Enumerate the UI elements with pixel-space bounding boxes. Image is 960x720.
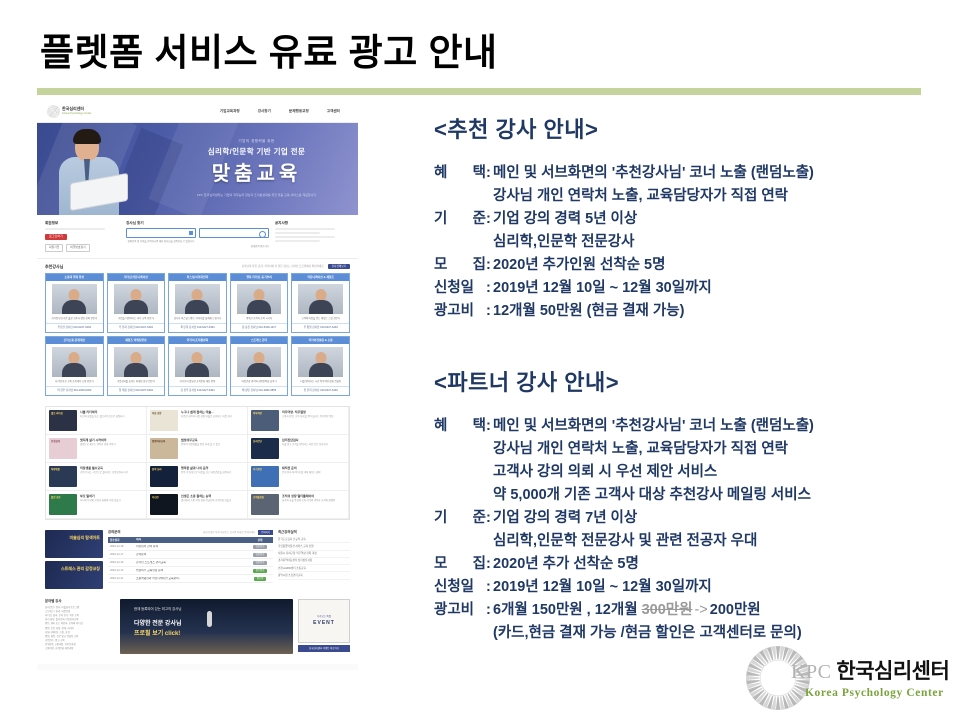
row-status: 답변완료 <box>249 561 271 565</box>
placeholder-line <box>275 236 335 238</box>
row-text: 2019년 12월 10일 ~ 12월 30일까지 <box>493 277 934 300</box>
slide-root: 플렛폼 서비스 유료 광고 안내 한국심리센터 Korea Psychology… <box>0 0 960 720</box>
info-row: 심리학,인문학 전문강사 <box>434 231 934 254</box>
inquiry-note: 회사/단체로 직접 제공받고 싶다면 아래로 문의하세요 <box>203 531 255 534</box>
price-new: 200만원 <box>710 602 761 618</box>
page-title: 플렛폼 서비스 유료 광고 안내 <box>40 22 498 76</box>
col-status: 상태 <box>249 539 271 542</box>
teacher-card-title: 리더십,커뮤니케이션 <box>108 274 165 281</box>
info-row: 모집 : 2020년 추가 선착순 5명 <box>434 553 934 576</box>
course-thumbnail: 자기경영 <box>251 466 279 487</box>
sunburst-icon <box>47 105 60 118</box>
promo-card[interactable]: 미술심리 탐색아트 <box>45 530 103 558</box>
row-colon: : <box>486 599 493 622</box>
row-label: 모집 <box>434 254 486 277</box>
banner-footnote: KPC 한국심리센터는 기업의 직무능력 향상과 조직활성화를 위한 맞춤 교육… <box>169 194 344 198</box>
row-colon: : <box>486 576 493 599</box>
teacher-contact: 유 민희 강사님 010-6227-6494 <box>292 386 349 395</box>
row-text: 강사님 개인 연락처 노출, 교육담당자가 직접 연락 <box>493 185 788 208</box>
row-title: 강사님 스트레스 관리교육 <box>136 561 245 564</box>
row-status: 답변완료 <box>249 545 271 549</box>
info-row: 심리학,인문학 전문강사 및 관련 전공자 우대 <box>434 530 934 553</box>
row-label: 광고비 <box>434 300 486 323</box>
footer-banner-line2: 다양한 전문 강사님 <box>134 621 182 629</box>
category-list: 분야별 강사 심리진단 / 검사, 미술심리프로그램 스트레스 / 관리, 마음… <box>45 599 115 654</box>
status-badge: 답변완료 <box>253 561 268 565</box>
teacher-grid-row1: 소통과 행복 향상 사기업/공공기관 출강 소통과 협업 강의 전문가 주진관 … <box>45 273 350 333</box>
placeholder-line <box>275 240 320 242</box>
news-item[interactable]: 서울시 자치구청 직무역량 강화 과정 <box>278 551 350 558</box>
row-date: 2019-12-13 <box>110 569 132 572</box>
row-colon: : <box>486 507 493 530</box>
info-row: 혜택 : 메인 및 서브화면의 '추천강사님' 코너 노출 (랜덤노출) <box>434 162 934 185</box>
notice-col: 공지사항 <box>275 221 350 252</box>
course-tag: 몰입 공감 <box>51 496 60 499</box>
teacher-contact: 주 현지 강사님 010-6227-6494 <box>108 323 165 332</box>
price-arrow: -> <box>692 602 709 618</box>
promo-card[interactable]: 스트레스 관리 감정코칭 <box>45 561 103 589</box>
teacher-photo <box>175 347 220 377</box>
section-partner: <파트너 강사 안내> 혜택 : 메인 및 서브화면의 '추천강사님' 코너 노… <box>434 365 934 645</box>
teacher-card[interactable]: 퍼스널,이미지전략 남다른 퍼스널 브랜드 이미지를 설계해 드립니다 최 민희… <box>168 273 227 333</box>
teacher-search-title: 강사님 찾기 <box>126 221 269 225</box>
search-input[interactable] <box>199 228 269 238</box>
section-header: 추천강사님 강사님의 자질, 품격, 커리어와 더 많은 정보는 강사님 프로필… <box>45 264 350 269</box>
teacher-desc: 기업을 이끌어가는 리더 교육 전문가 <box>108 316 165 323</box>
promo-column: 미술심리 탐색아트 스트레스 관리 감정코칭 <box>45 530 103 589</box>
teacher-photo <box>298 347 343 377</box>
promo-title: 스트레스 관리 감정코칭 <box>61 567 100 572</box>
member-info-title: 회원정보 <box>45 221 120 225</box>
teacher-photo <box>52 284 97 314</box>
course-sub: 기본이 되는, 기본으로 돌아가는 신입사원과 리더 <box>80 471 128 475</box>
course-grid: 셀프 리더십 나를 리더하라자신의 성장을 돕는 셀프리더십으로 성장하기 마음… <box>45 406 350 520</box>
kpc-english-name: Korea Psychology Center <box>805 687 949 699</box>
course-cell[interactable]: 직무역량 직무역량, 직무열정소통과 협업, 조직 성과를 끌어 올리는 직무역… <box>248 407 349 435</box>
teacher-card[interactable]: 커리어,조직활성화 리더로서 필요한 조직문화 개선 방향 김 경주 강사님 0… <box>168 336 227 396</box>
course-thumbnail: 직무역량 <box>251 410 279 431</box>
course-sub: 열정으로 채우는 행복한 인생 이야기 <box>80 443 116 447</box>
row-date: 2019-12-11 <box>110 577 132 580</box>
course-thumbnail: 인생설계 <box>49 438 77 459</box>
category-select[interactable] <box>126 228 196 238</box>
status-badge: 접수중 <box>254 577 267 581</box>
site-hero-banner: 기업의 경쟁력을 위한 심리학/인문학 기반 기업 전문 맞춤교육 KPC 한국… <box>37 123 358 215</box>
teacher-contact: 주진관 강사님 010-6227-6494 <box>46 323 103 332</box>
banner-title: 맞춤교육 <box>169 162 344 187</box>
course-sub: 자녀와 부모의 공감과 화합의 가정 만들기 <box>80 499 121 503</box>
teacher-card-title: 소통과 행복 향상 <box>46 274 103 281</box>
row-label: 광고비 <box>434 599 486 622</box>
course-title: 법정의무교육 <box>181 438 220 442</box>
category-item[interactable]: 소통역량, 조직문화 개선과정 <box>45 647 115 651</box>
course-cell[interactable]: 음악 심리 행복한 삶과 나의 음악음악 속 감성으로 마음을 쉬고 마음건강을… <box>147 463 248 491</box>
teacher-desc: 사기업/공공 교육 조직내부 소통 전문가 <box>46 379 103 386</box>
kpc-abbreviation: KPC <box>791 661 831 684</box>
banner-copy: 기업의 경쟁력을 위한 심리학/인문학 기반 기업 전문 맞춤교육 KPC 한국… <box>169 139 344 198</box>
teacher-card[interactable]: 세일즈 마케팅향상 기업성과를 높이는 마케팅 실무 전문가 임 택용 강사님 … <box>107 336 166 396</box>
teacher-desc: 고객의 마음을 얻는 세일즈 스킬 전문가 <box>292 316 349 323</box>
row-colon: : <box>486 415 493 438</box>
course-cell[interactable]: 마음 성장 누구나 쉽게 접하는 미술...자존감 회복과 마음 성장 미술로 … <box>147 407 248 435</box>
row-title: 미술심리 강의 문의 <box>136 545 245 548</box>
inquiry-button[interactable]: 문의하기 <box>258 530 273 535</box>
course-thumbnail: 몰입 공감 <box>49 494 77 515</box>
teacher-desc: 기업성과를 높이는 마케팅 실무 전문가 <box>108 379 165 386</box>
row-text: (카드,현금 결재 가능 /현금 할인은 고객센터로 문의) <box>493 622 802 645</box>
course-thumbnail: 음악 심리 <box>150 466 178 487</box>
info-row: 기준 : 기업 강의 경력 7년 이상 <box>434 507 934 530</box>
course-title: 조직의 성장 멀티플레이어 <box>282 494 335 498</box>
info-row-price: 광고비 : 6개월 150만원 , 12개월 300만원->200만원 <box>434 599 934 622</box>
row-label: 모집 <box>434 553 486 576</box>
row-label: 혜택 <box>434 415 486 438</box>
teacher-card[interactable]: 스트레스 관리 마음건강 관리와 회복탄력성 높이기 배 정민 강사님 010-… <box>230 336 289 396</box>
course-tag: 자신감 <box>152 496 159 499</box>
content-column: <추천 강사 안내> 혜택 : 메인 및 서브화면의 '추천강사님' 코너 노출… <box>434 112 934 645</box>
site-nav-items: 기업교육과정 강사찾기 문제행동교정 고객센터 <box>220 109 348 113</box>
price-old: 300만원 <box>642 602 693 618</box>
row-colon: : <box>486 162 493 185</box>
status-badge: 답변완료 <box>253 553 268 557</box>
info-row: 신청일 : 2019년 12월 10일 ~ 12월 30일까지 <box>434 277 934 300</box>
row-colon: : <box>486 553 493 576</box>
search-controls <box>126 228 269 238</box>
col-title: 제목 <box>136 538 245 541</box>
news-item[interactable]: 경기지역아동센터 심리상담과정 <box>278 558 350 565</box>
course-cell[interactable]: 직장예절 직장생활 필수교육기본이 되는, 기본으로 돌아가는 신입사원과 리더 <box>46 463 147 491</box>
event-box[interactable]: 다가오는 특별 EVENT 한국심리센터 이벤트 바로가기 <box>298 599 350 654</box>
row-text: 약 5,000개 기존 고객사 대상 추천강사 메일링 서비스 <box>493 484 811 507</box>
site-nav-item: 기업교육과정 <box>220 109 240 113</box>
course-sub: 일터에서 소통 역량 강화 직급간의 조직문화 만들기 <box>181 499 231 503</box>
row-date: 2019-12-18 <box>110 545 132 548</box>
course-title: 멋지게 살기 시작하라 <box>80 438 116 442</box>
teacher-contact: 임 택용 강사님 010-6227-6494 <box>108 386 165 395</box>
course-thumbnail: 심리진단 <box>251 438 279 459</box>
row-colon: : <box>486 208 493 231</box>
kpc-logo: KPC 한국심리센터 Korea Psychology Center <box>745 645 950 711</box>
course-title: 직장생활 필수교육 <box>80 466 128 470</box>
kpc-logo-text: KPC 한국심리센터 Korea Psychology Center <box>791 655 949 699</box>
course-title: 직무역량, 직무열정 <box>282 410 334 414</box>
teacher-photo <box>52 347 97 377</box>
course-tag: 인생설계 <box>51 440 60 443</box>
table-row[interactable]: 2019-12-11 소통역량강화 커뮤니케이션 교육문의... 접수중 <box>108 575 273 583</box>
row-title: 법정의무 교육일정 문의 <box>136 569 245 572</box>
row-text: 2020년 추가 선착순 5명 <box>493 553 934 576</box>
row-text: 심리학,인문학 전문강사 <box>493 231 634 254</box>
course-title: 퇴직전 준비 <box>282 466 321 470</box>
status-badge: 접수완료 <box>253 569 268 573</box>
login-button[interactable]: 로그인하기 <box>45 234 67 240</box>
course-tag: 자기경영 <box>253 468 262 471</box>
row-label: 기준 <box>434 507 486 530</box>
inquiry-title: 강의문의 <box>108 530 120 534</box>
course-cell[interactable]: 몰입 공감 부모 말하기자녀와 부모의 공감과 화합의 가정 만들기 <box>46 491 147 519</box>
member-buttons: 회원가입 비밀번호찾기 <box>45 244 120 251</box>
news-item[interactable]: 한국도로공사 신규직 교육 <box>278 536 350 543</box>
banner-person-photo <box>53 129 131 215</box>
title-divider <box>37 88 921 95</box>
promo-title: 미술심리 탐색아트 <box>69 536 100 541</box>
course-thumbnail: 자신감 <box>150 494 178 515</box>
row-title: 강의문의 <box>136 553 245 556</box>
row-label: 신청일 <box>434 277 486 300</box>
row-text-price: 6개월 150만원 , 12개월 300만원->200만원 <box>493 599 934 622</box>
info-row: 강사님 개인 연락처 노출, 교육담당자가 직접 연락 <box>434 185 934 208</box>
course-tag: 조직활성화 <box>253 496 264 499</box>
course-cell[interactable]: 심리진단 심리진단검사나를 알고 조직을 알아가는 마음 진단 심리검사 <box>248 435 349 463</box>
row-text: 고객사 강의 의뢰 시 우선 제안 서비스 <box>493 461 717 484</box>
course-thumbnail: 직장예절 <box>49 466 77 487</box>
teacher-card-title: 스트레스 관리 <box>231 337 288 344</box>
teacher-desc: 리더로서 필요한 조직문화 개선 방향 <box>169 379 226 386</box>
course-tag: 마음 성장 <box>152 412 161 415</box>
news-item[interactable]: 국립중앙박물관 서비스 교육 진행 <box>278 543 350 550</box>
course-title: 행복한 삶과 나의 음악 <box>181 466 231 470</box>
person-hair <box>73 129 101 144</box>
banner-subtitle: 심리학/인문학 기반 기업 전문 <box>169 147 344 156</box>
row-date: 2019-12-16 <box>110 561 132 564</box>
table-row[interactable]: 2019-12-16 강사님 스트레스 관리교육 답변완료 <box>108 559 273 567</box>
teacher-photo <box>114 347 159 377</box>
teacher-card-title: 세일즈 마케팅향상 <box>108 337 165 344</box>
course-title: 인생은 소통 잘하는 능력 <box>181 494 231 498</box>
row-text: 메인 및 서브화면의 '추천강사님' 코너 노출 (랜덤노출) <box>493 162 934 185</box>
row-label: 기준 <box>434 208 486 231</box>
row-text: 2020년 추가인원 선착순 5명 <box>493 254 934 277</box>
row-text: 메인 및 서브화면의 '추천강사님' 코너 노출 (랜덤노출) <box>493 415 934 438</box>
section-title: 추천강사님 <box>45 264 63 269</box>
teacher-card-title: 커리어컨설팅 & 소통 <box>292 337 349 344</box>
site-navbar: 한국심리센터 Korea Psychology Center 기업교육과정 강사… <box>37 100 358 123</box>
row-text: 기업 강의 경력 7년 이상 <box>493 507 934 530</box>
teacher-desc: 나를 알아가는 시간 직무역량 강화 컨설팅 <box>292 379 349 386</box>
teacher-contact: 우 종철 강사님 010-6227-6494 <box>292 323 349 332</box>
row-text: 12개월 50만원 (현금 결재 가능) <box>493 300 934 323</box>
teacher-desc: 사기업/공공기관 출강 소통과 협업 강의 전문가 <box>46 316 103 323</box>
info-row: 신청일 : 2019년 12월 10일 ~ 12월 30일까지 <box>434 576 934 599</box>
teacher-card-title: 퍼스널,이미지전략 <box>169 274 226 281</box>
teacher-desc: 행복한 조직과 조직 시너지 <box>231 316 288 323</box>
info-row: 고객사 강의 의뢰 시 우선 제안 서비스 <box>434 461 934 484</box>
site-footer: 분야별 강사 심리진단 / 검사, 미술심리프로그램 스트레스 / 관리, 마음… <box>37 594 358 664</box>
event-top-label: 다가오는 특별 <box>317 615 331 618</box>
teacher-card-title: 커리어,조직활성화 <box>169 337 226 344</box>
footer-banner-line1: 현재 등록되어 있는 최고의 강사님 <box>134 607 181 611</box>
course-sub: 소통과 협업, 조직 성과를 끌어 올리는 직무역량 향상 <box>282 415 334 419</box>
course-cell[interactable]: 자신감 인생은 소통 잘하는 능력일터에서 소통 역량 강화 직급간의 조직문화… <box>147 491 248 519</box>
teacher-card[interactable]: 커리어컨설팅 & 소통 나를 알아가는 시간 직무역량 강화 컨설팅 유 민희 … <box>291 336 350 396</box>
section-note: 강사님의 자질, 품격, 커리어와 더 많은 정보는 강사님 프로필에서 확인하… <box>242 265 324 268</box>
section-heading-partner: <파트너 강사 안내> <box>434 365 934 397</box>
teacher-photo <box>175 284 220 314</box>
teacher-grid-row2: 조직소통,관계개선 사기업/공공 교육 조직내부 소통 전문가 박 현주 강사님… <box>45 336 350 396</box>
teacher-contact: 정 승진 강사님 010-5429-1217 <box>231 323 288 332</box>
course-title: 나를 리더하라 <box>80 410 124 414</box>
recommended-teachers-section: 추천강사님 강사님의 자질, 품격, 커리어와 더 많은 정보는 강사님 프로필… <box>37 259 358 401</box>
course-cell[interactable]: 셀프 리더십 나를 리더하라자신의 성장을 돕는 셀프리더십으로 성장하기 <box>46 407 147 435</box>
course-sub: 음악 속 감성으로 마음을 쉬고 마음건강을 회복하기 <box>181 471 231 475</box>
info-row: 모집 : 2020년 추가인원 선착순 5명 <box>434 254 934 277</box>
course-thumbnail: 셀프 리더십 <box>49 410 77 431</box>
course-title: 심리진단검사 <box>282 438 328 442</box>
news-item[interactable]: 인천시HRD센터 소통교육 <box>278 565 350 572</box>
site-info-strip: 회원정보 로그인하기 회원가입 비밀번호찾기 강사님 찾기 · 강의분야 및 지… <box>37 215 358 259</box>
inquiry-table-header: 강의문의 회사/단체로 직접 제공받고 싶다면 아래로 문의하세요 문의하기 <box>108 530 273 535</box>
course-tag: 셀프 리더십 <box>51 412 63 415</box>
teacher-card[interactable]: 리더십,커뮤니케이션 기업을 이끌어가는 리더 교육 전문가 주 현지 강사님 … <box>107 273 166 333</box>
row-text: 심리학,인문학 전문강사 및 관련 전공자 우대 <box>493 530 757 553</box>
status-badge: 답변완료 <box>253 545 268 549</box>
row-label: 신청일 <box>434 576 486 599</box>
site-logo-subtext: Korea Psychology Center <box>62 112 91 115</box>
teacher-desc: 마음건강 관리와 회복탄력성 높이기 <box>231 379 288 386</box>
site-logo: 한국심리센터 Korea Psychology Center <box>47 105 91 118</box>
table-row[interactable]: 2019-12-18 미술심리 강의 문의 답변완료 <box>108 543 273 551</box>
teacher-photo <box>298 284 343 314</box>
course-tag: 직무역량 <box>253 412 262 415</box>
placeholder-line <box>45 228 105 230</box>
teacher-photo <box>237 347 282 377</box>
find-password-button[interactable]: 비밀번호찾기 <box>66 244 89 251</box>
news-item[interactable]: 광역시청 소진관리교육 <box>278 572 350 579</box>
course-title: 누구나 쉽게 접하는 미술... <box>181 410 232 414</box>
event-link[interactable]: 한국심리센터 이벤트 바로가기 <box>298 645 350 652</box>
row-text: 2019년 12월 10일 ~ 12월 30일까지 <box>493 576 934 599</box>
course-cell[interactable]: 자기경영 퇴직전 준비은퇴 전과 퇴직이후를 대비 해보는 강의 <box>248 463 349 491</box>
course-section: 셀프 리더십 나를 리더하라자신의 성장을 돕는 셀프리더십으로 성장하기 마음… <box>37 401 358 525</box>
course-thumbnail: 조직활성화 <box>251 494 279 515</box>
recent-lectures-title: 최근강의실적 <box>278 530 350 534</box>
row-colon: : <box>486 300 493 323</box>
teacher-photo <box>114 284 159 314</box>
row-status: 접수중 <box>249 577 271 581</box>
course-sub: 자신의 성장을 돕는 셀프리더십으로 성장하기 <box>80 415 124 419</box>
course-sub: 자존감 회복과 마음 성장 미술로 표현하는 마음 심리 <box>181 415 232 419</box>
site-nav-item: 강사찾기 <box>258 109 271 113</box>
course-cell[interactable]: 조직활성화 조직의 성장 멀티플레이어성과와 효율 중심의 조직 리더의 행복과… <box>248 491 349 519</box>
teacher-card[interactable]: 커뮤니케이션 & 세일즈 고객의 마음을 얻는 세일즈 스킬 전문가 우 종철 … <box>291 273 350 333</box>
section-heading-recommended: <추천 강사 안내> <box>434 112 934 144</box>
course-thumbnail: 법정의무교육 <box>150 438 178 459</box>
row-status: 답변완료 <box>249 553 271 557</box>
teacher-photo <box>237 284 282 314</box>
info-row: 혜택 : 메인 및 서브화면의 '추천강사님' 코너 노출 (랜덤노출) <box>434 415 934 438</box>
teacher-desc: 남다른 퍼스널 브랜드 이미지를 설계해 드립니다 <box>169 316 226 323</box>
event-title: EVENT <box>313 620 335 626</box>
row-status: 접수완료 <box>249 569 271 573</box>
teacher-contact: 배 정민 강사님 010-2984-0853 <box>231 386 288 395</box>
inquiry-table: 강의문의 회사/단체로 직접 제공받고 싶다면 아래로 문의하세요 문의하기 접… <box>108 530 273 589</box>
teacher-card-title: 조직소통,관계개선 <box>46 337 103 344</box>
microphone-icon <box>207 611 212 627</box>
site-nav-item: 문제행동교정 <box>289 109 309 113</box>
site-bottom-strip: 미술심리 탐색아트 스트레스 관리 감정코칭 강의문의 회사/단체로 직접 제공… <box>37 525 358 594</box>
member-info-col: 회원정보 로그인하기 회원가입 비밀번호찾기 <box>45 221 120 252</box>
placeholder-line <box>275 232 320 234</box>
teacher-card[interactable]: 조직소통,관계개선 사기업/공공 교육 조직내부 소통 전문가 박 현주 강사님… <box>45 336 104 396</box>
footer-banner[interactable]: 현재 등록되어 있는 최고의 강사님 다양한 전문 강사님 프로필 보기 cli… <box>120 599 293 654</box>
course-tag: 직장예절 <box>51 468 60 471</box>
info-row: 약 5,000개 기존 고객사 대상 추천강사 메일링 서비스 <box>434 484 934 507</box>
advanced-search-link[interactable]: 상세검색 바로가기 <box>126 245 269 249</box>
category-list-title: 분야별 강사 <box>45 599 115 603</box>
course-sub: 성과와 효율 중심의 조직 리더의 행복과 조직의 경쟁력 <box>282 499 335 503</box>
site-nav-item: 고객센터 <box>327 109 340 113</box>
teacher-search-col: 강사님 찾기 · 강의분야 및 지역을 선택하시면 해당 강사님을 검색하실 수… <box>126 221 269 252</box>
course-tag: 음악 심리 <box>152 468 161 471</box>
teacher-contact: 박 현주 강사님 010-2649-6303 <box>46 386 103 395</box>
course-thumbnail: 마음 성장 <box>150 410 178 431</box>
row-date: 2019-12-17 <box>110 553 132 556</box>
course-sub: 나를 알고 조직을 알아가는 마음 진단 심리검사 <box>282 443 328 447</box>
row-colon: : <box>486 277 493 300</box>
footer-banner-line3: 프로필 보기 click! <box>134 631 180 639</box>
price-prefix: 6개월 150만원 , 12개월 <box>493 602 642 618</box>
course-title: 부모 말하기 <box>80 494 121 498</box>
teacher-contact: 김 경주 강사님 010-6227-6494 <box>169 386 226 395</box>
course-sub: 알아야 직장생활을 편안 하게 할 수 있다 <box>181 443 220 447</box>
info-row: (카드,현금 결재 가능 /현금 할인은 고객센터로 문의) <box>434 622 934 645</box>
kpc-korean-name: 한국심리센터 <box>836 655 949 685</box>
info-row: 광고비 : 12개월 50만원 (현금 결재 가능) <box>434 300 934 323</box>
info-row: 기준 : 기업 강의 경력 5년 이상 <box>434 208 934 231</box>
row-label: 혜택 <box>434 162 486 185</box>
placeholder-line <box>275 228 335 230</box>
teacher-card[interactable]: 소통과 행복 향상 사기업/공공기관 출강 소통과 협업 강의 전문가 주진관 … <box>45 273 104 333</box>
notice-title: 공지사항 <box>275 221 350 225</box>
recent-lectures: 최근강의실적 한국도로공사 신규직 교육 국립중앙박물관 서비스 교육 진행 서… <box>278 530 350 589</box>
event-card: 다가오는 특별 EVENT <box>298 599 350 643</box>
table-row[interactable]: 2019-12-13 법정의무 교육일정 문의 접수완료 <box>108 567 273 575</box>
row-colon: : <box>486 254 493 277</box>
col-date: 접수일자 <box>110 539 132 542</box>
website-screenshot: 한국심리센터 Korea Psychology Center 기업교육과정 강사… <box>37 100 358 670</box>
table-row[interactable]: 2019-12-17 강의문의 답변완료 <box>108 551 273 559</box>
teacher-contact: 최 민희 강사님 010-6227-6494 <box>169 323 226 332</box>
teacher-card-title: 행복 리더십, 동기부여 <box>231 274 288 281</box>
course-tag: 심리진단 <box>253 440 262 443</box>
course-cell[interactable]: 법정의무교육 법정의무교육알아야 직장생활을 편안 하게 할 수 있다 <box>147 435 248 463</box>
course-cell[interactable]: 인생설계 멋지게 살기 시작하라열정으로 채우는 행복한 인생 이야기 <box>46 435 147 463</box>
banner-eyebrow: 기업의 경쟁력을 위한 <box>169 139 344 143</box>
info-row: 강사님 개인 연락처 노출, 교육담당자가 직접 연락 <box>434 438 934 461</box>
row-text: 기업 강의 경력 5년 이상 <box>493 208 934 231</box>
signup-button[interactable]: 회원가입 <box>45 244 63 251</box>
row-title: 소통역량강화 커뮤니케이션 교육문의... <box>136 577 245 580</box>
course-sub: 은퇴 전과 퇴직이후를 대비 해보는 강의 <box>282 471 321 475</box>
teacher-card[interactable]: 행복 리더십, 동기부여 행복한 조직과 조직 시너지 정 승진 강사님 010… <box>230 273 289 333</box>
course-tag: 법정의무교육 <box>152 440 165 443</box>
row-text: 강사님 개인 연락처 노출, 교육담당자가 직접 연락 <box>493 438 788 461</box>
view-all-teachers-button[interactable]: 강사전체보기 <box>328 264 350 269</box>
teacher-card-title: 커뮤니케이션 & 세일즈 <box>292 274 349 281</box>
